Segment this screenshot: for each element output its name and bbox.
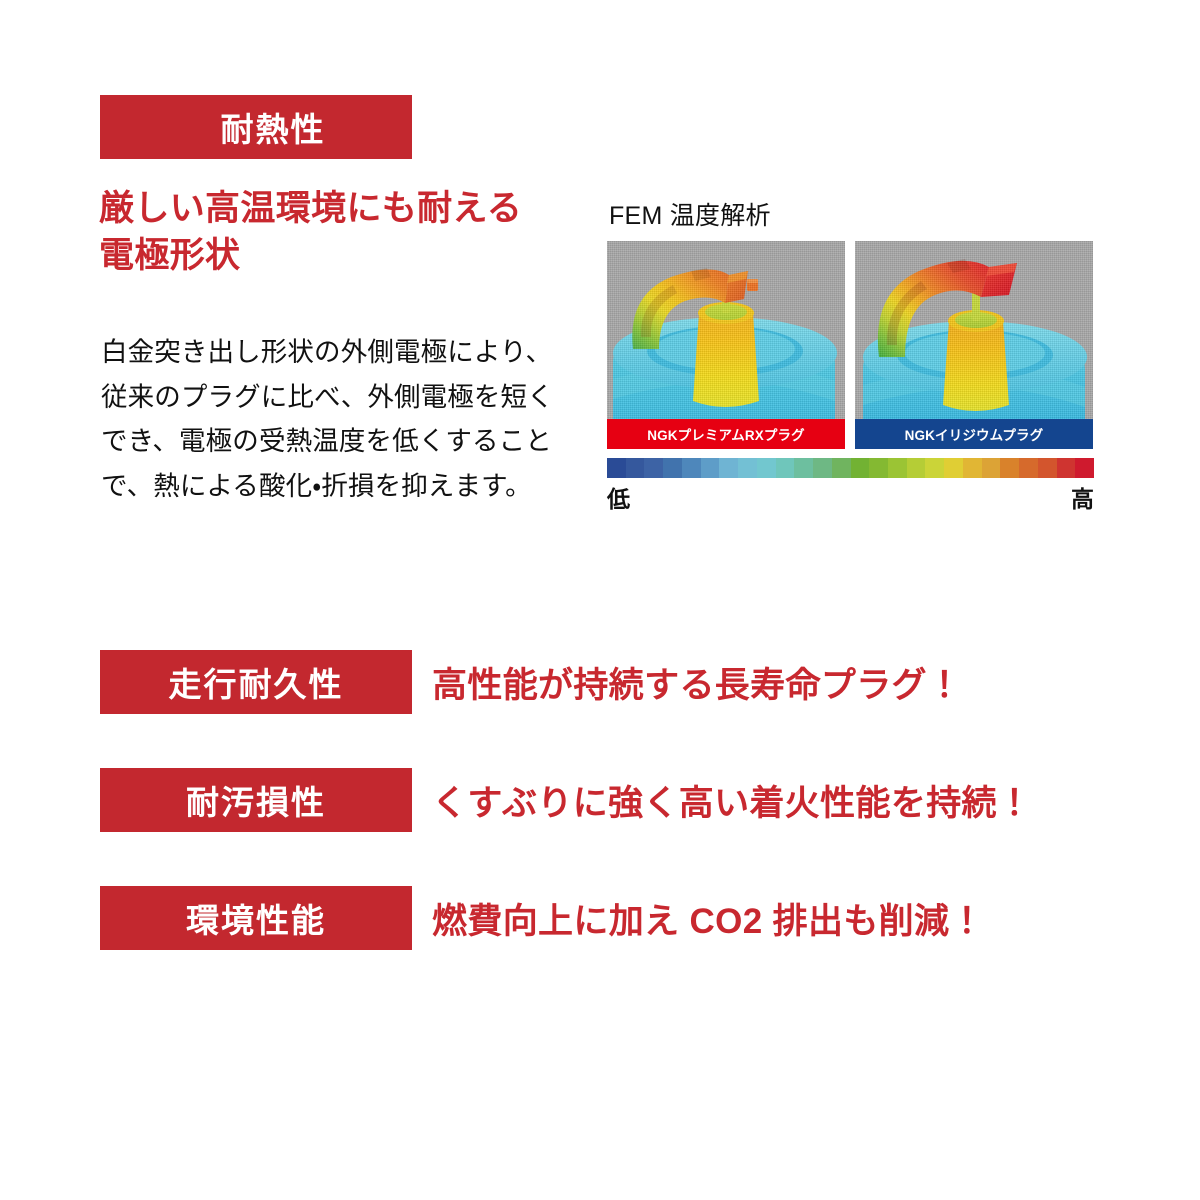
scale-band-10 xyxy=(794,458,813,478)
section-badge-heat-resistance: 耐熱性 xyxy=(100,95,412,159)
scale-band-15 xyxy=(888,458,907,478)
heat-body-line-1: 白金突き出し形状の外側電極により、 xyxy=(101,330,579,375)
feature-text-fouling-resistance: くすぶりに強く高い着火性能を持続！ xyxy=(432,768,1032,832)
temperature-scale-labels: 低 高 xyxy=(607,480,1094,514)
feature-badge-fouling-resistance: 耐汚損性 xyxy=(100,768,412,832)
scale-band-3 xyxy=(663,458,682,478)
scale-band-22 xyxy=(1019,458,1038,478)
heat-body-line-4: で、熱による酸化・折損を抑えます。 xyxy=(101,464,579,509)
scale-band-4 xyxy=(682,458,701,478)
scale-band-13 xyxy=(851,458,870,478)
scale-label-low: 低 xyxy=(607,480,630,514)
scale-label-high: 高 xyxy=(1071,480,1094,514)
temperature-scale-bar xyxy=(607,458,1094,478)
fem-caption-iridium: NGKイリジウムプラグ xyxy=(855,419,1093,449)
feature-text-driving-durability: 高性能が持続する長寿命プラグ！ xyxy=(432,650,962,714)
scale-band-9 xyxy=(776,458,795,478)
scale-band-12 xyxy=(832,458,851,478)
scale-band-14 xyxy=(869,458,888,478)
scale-band-18 xyxy=(944,458,963,478)
scale-band-23 xyxy=(1038,458,1057,478)
feature-badge-environmental-performance: 環境性能 xyxy=(100,886,412,950)
scale-band-7 xyxy=(738,458,757,478)
scale-band-16 xyxy=(907,458,926,478)
scale-band-1 xyxy=(626,458,645,478)
scale-band-25 xyxy=(1075,458,1094,478)
scale-band-6 xyxy=(719,458,738,478)
heat-section-heading: 厳しい高温環境にも耐える 電極形状 xyxy=(99,186,589,280)
scale-band-5 xyxy=(701,458,720,478)
heat-heading-line-2: 電極形状 xyxy=(99,233,589,280)
heat-heading-line-1: 厳しい高温環境にも耐える xyxy=(99,186,589,233)
fem-thermal-render-iridium xyxy=(855,241,1093,449)
scale-band-8 xyxy=(757,458,776,478)
scale-band-2 xyxy=(644,458,663,478)
fem-thermal-render-rx xyxy=(607,241,845,449)
fem-panel-iridium: NGKイリジウムプラグ xyxy=(855,241,1093,449)
scale-band-21 xyxy=(1000,458,1019,478)
feature-row-fouling-resistance: 耐汚損性 くすぶりに強く高い着火性能を持続！ xyxy=(100,768,1100,832)
fem-panel-group: NGKプレミアムRXプラグ xyxy=(607,241,1094,449)
scale-band-19 xyxy=(963,458,982,478)
feature-text-environmental-performance: 燃費向上に加え CO2 排出も削減！ xyxy=(432,886,985,950)
scale-band-11 xyxy=(813,458,832,478)
fem-caption-premium-rx: NGKプレミアムRXプラグ xyxy=(607,419,845,449)
heat-body-line-2: 従来のプラグに比べ、外側電極を短く xyxy=(101,375,579,420)
scale-band-20 xyxy=(982,458,1001,478)
scale-band-17 xyxy=(925,458,944,478)
feature-badge-driving-durability: 走行耐久性 xyxy=(100,650,412,714)
fem-analysis-block: FEM 温度解析 xyxy=(607,196,1094,514)
scale-band-24 xyxy=(1057,458,1076,478)
temperature-scale: 低 高 xyxy=(607,458,1094,514)
scale-band-0 xyxy=(607,458,626,478)
heat-section-body-text: 白金突き出し形状の外側電極により、 従来のプラグに比べ、外側電極を短く でき、電… xyxy=(101,330,579,508)
heat-body-line-3: でき、電極の受熱温度を低くすること xyxy=(101,419,579,464)
fem-panel-premium-rx: NGKプレミアムRXプラグ xyxy=(607,241,845,449)
fem-analysis-title: FEM 温度解析 xyxy=(609,196,1094,232)
feature-row-driving-durability: 走行耐久性 高性能が持続する長寿命プラグ！ xyxy=(100,650,1100,714)
feature-row-environmental-performance: 環境性能 燃費向上に加え CO2 排出も削減！ xyxy=(100,886,1100,950)
